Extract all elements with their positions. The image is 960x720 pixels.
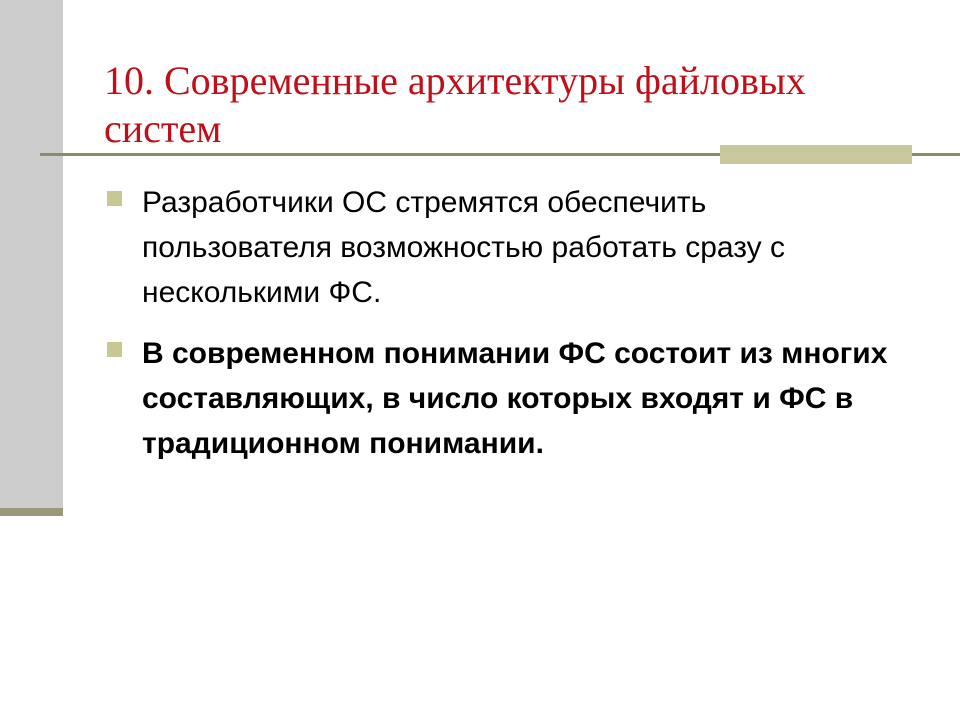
bullet-text: В современном понимании ФС состоит из мн…	[142, 331, 904, 466]
bullet-text: Разработчики ОС стремятся обеспечить пол…	[142, 180, 904, 315]
list-item: В современном понимании ФС состоит из мн…	[104, 331, 904, 466]
slide-body: Разработчики ОС стремятся обеспечить пол…	[104, 180, 904, 482]
list-item: Разработчики ОС стремятся обеспечить пол…	[104, 180, 904, 315]
presentation-slide: 10. Современные архитектуры файловых сис…	[0, 0, 960, 720]
square-bullet-icon	[107, 342, 122, 357]
left-band-foot-accent	[0, 508, 63, 516]
slide-title: 10. Современные архитектуры файловых сис…	[104, 57, 894, 153]
left-decorative-band	[0, 0, 63, 508]
square-bullet-icon	[107, 191, 122, 206]
title-accent-block	[720, 145, 912, 164]
